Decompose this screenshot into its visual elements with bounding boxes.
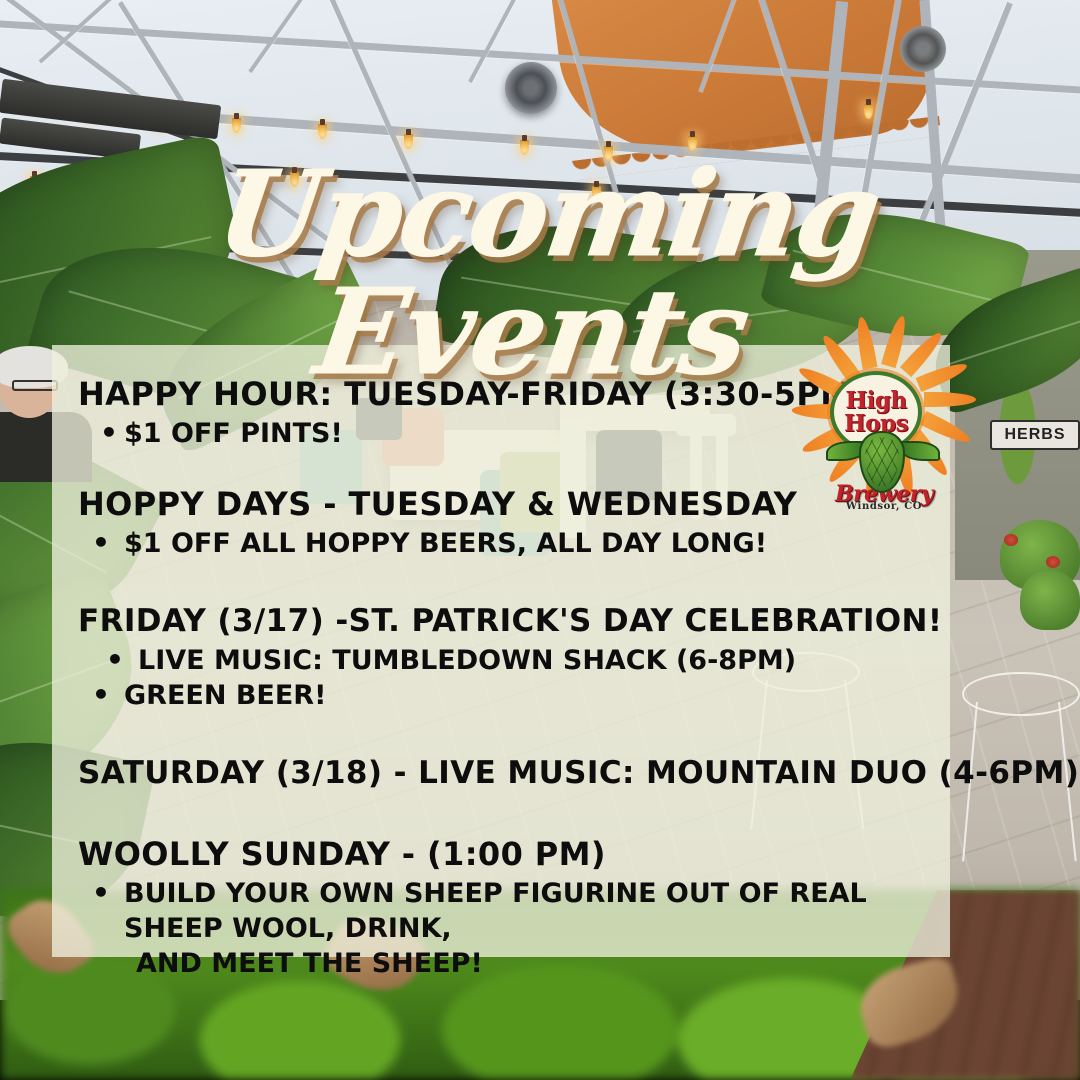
- event-bullets: BUILD YOUR OWN SHEEP FIGURINE OUT OF REA…: [78, 876, 924, 981]
- event-bullet: LIVE MUSIC: TUMBLEDOWN SHACK (6-8PM): [78, 643, 924, 678]
- event-bullets: $1 OFF ALL HOPPY BEERS, ALL DAY LONG!: [78, 526, 924, 561]
- logo-city-text: Windsor, CO: [812, 501, 956, 512]
- ceiling-fan-icon: [505, 62, 557, 114]
- flower: [1004, 534, 1018, 546]
- event-flyer: HERBS: [0, 0, 1080, 1080]
- event-headline: WOOLLY SUNDAY - (1:00 PM): [78, 835, 924, 874]
- event-bullet: GREEN BEER!: [78, 678, 924, 713]
- event-bullet-text: BUILD YOUR OWN SHEEP FIGURINE OUT OF REA…: [124, 878, 867, 944]
- high-hops-brewery-logo: High Hops Brewery Windsor, CO: [812, 345, 956, 507]
- event-headline: HOPPY DAYS - TUESDAY & WEDNESDAY: [78, 485, 924, 524]
- event-headline: SATURDAY (3/18) - LIVE MUSIC: MOUNTAIN D…: [78, 755, 924, 793]
- event-bullet: BUILD YOUR OWN SHEEP FIGURINE OUT OF REA…: [78, 876, 924, 981]
- event-headline: FRIDAY (3/17) -ST. PATRICK'S DAY CELEBRA…: [78, 603, 924, 641]
- event-bullets: $1 OFF PINTS!: [78, 416, 924, 451]
- wire-plant-stand: [962, 672, 1080, 716]
- potted-plant: [1020, 570, 1080, 630]
- logo-name-line1: High: [845, 389, 906, 412]
- herbs-sign: HERBS: [990, 420, 1080, 450]
- event-bullet: $1 OFF ALL HOPPY BEERS, ALL DAY LONG!: [78, 526, 924, 561]
- event-block-st-patricks: FRIDAY (3/17) -ST. PATRICK'S DAY CELEBRA…: [78, 603, 924, 713]
- event-block-woolly-sunday: WOOLLY SUNDAY - (1:00 PM) BUILD YOUR OWN…: [78, 835, 924, 981]
- event-bullet: $1 OFF PINTS!: [78, 416, 924, 451]
- event-block-hoppy-days: HOPPY DAYS - TUESDAY & WEDNESDAY $1 OFF …: [78, 485, 924, 561]
- ceiling-fan-icon: [900, 26, 946, 72]
- event-bullets: LIVE MUSIC: TUMBLEDOWN SHACK (6-8PM) GRE…: [78, 643, 924, 713]
- event-block-saturday: SATURDAY (3/18) - LIVE MUSIC: MOUNTAIN D…: [78, 755, 924, 793]
- event-bullet-continuation: AND MEET THE SHEEP!: [124, 946, 924, 981]
- flower: [1046, 556, 1060, 568]
